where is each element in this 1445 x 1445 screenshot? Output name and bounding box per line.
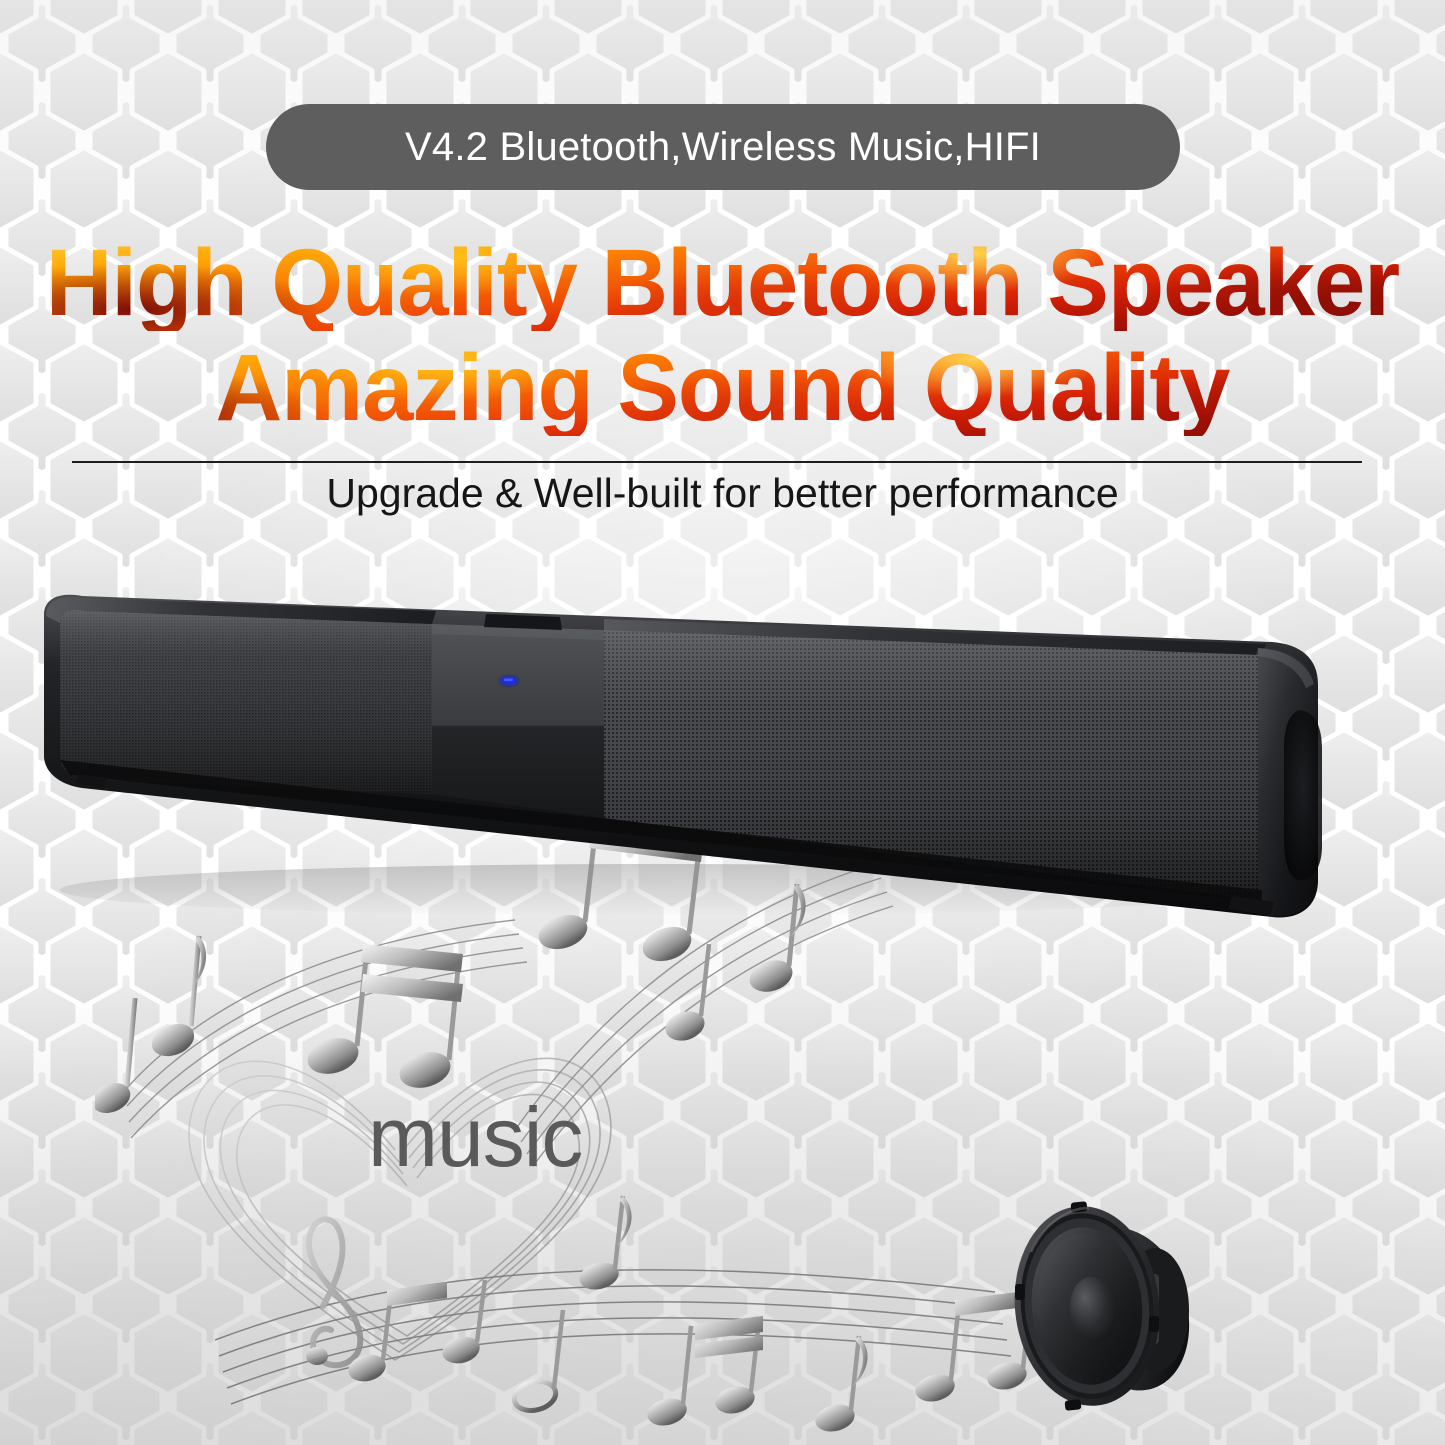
music-note <box>644 1326 691 1429</box>
soundbar-right-endcap <box>1256 648 1322 917</box>
headline-divider-rule <box>72 461 1362 463</box>
headline-line-2: Amazing Sound Quality <box>22 341 1424 436</box>
bluetooth-status-led-icon <box>497 674 521 688</box>
music-note <box>511 1310 563 1415</box>
soundbar-control-panel <box>432 614 604 818</box>
subtitle-text: Upgrade & Well-built for better performa… <box>0 470 1445 517</box>
music-note <box>95 998 135 1118</box>
feature-banner-pill: V4.2 Bluetooth,Wireless Music,HIFI <box>266 104 1180 190</box>
soundbar-product-image <box>0 560 1445 980</box>
music-note <box>576 1196 631 1293</box>
music-wordmark: music <box>368 1095 582 1179</box>
product-banner-stage: V4.2 Bluetooth,Wireless Music,HIFI High … <box>0 0 1445 1445</box>
headline-line-1: High Quality Bluetooth Speaker <box>22 236 1424 331</box>
feature-banner-text: V4.2 Bluetooth,Wireless Music,HIFI <box>405 125 1041 170</box>
headline-block: High Quality Bluetooth Speaker Amazing S… <box>0 236 1445 436</box>
speaker-driver-image <box>1005 1188 1225 1418</box>
music-note <box>695 1316 763 1417</box>
music-note <box>812 1336 867 1435</box>
